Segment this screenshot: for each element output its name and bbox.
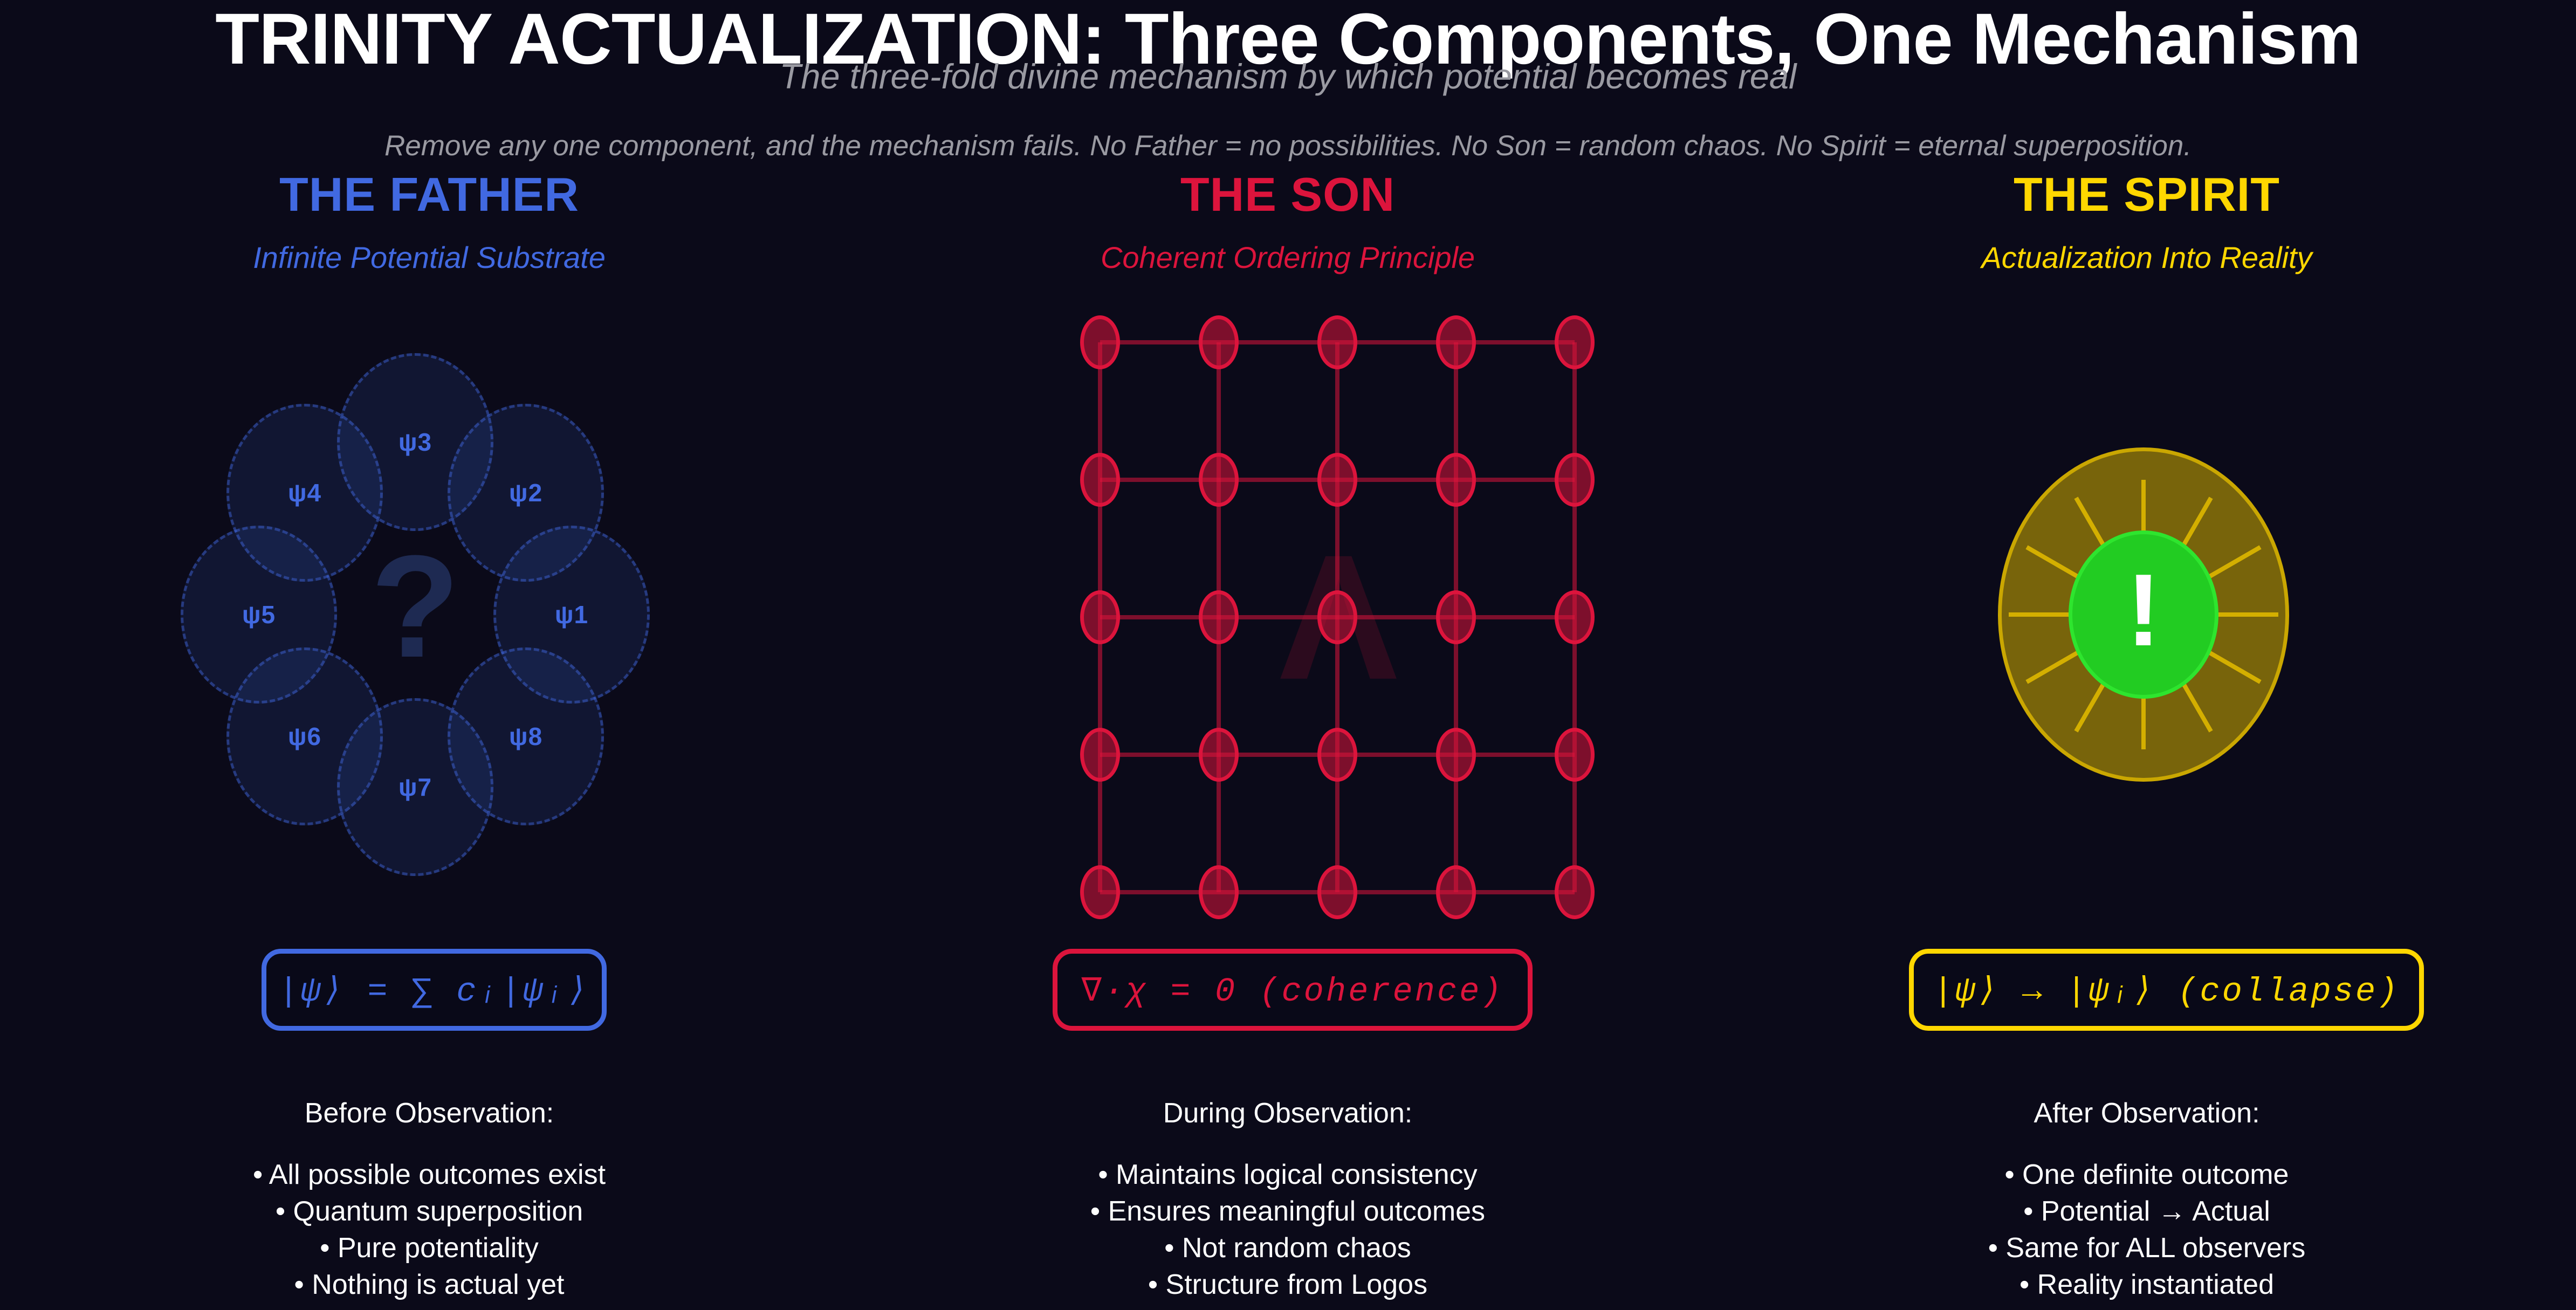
list-item: • Nothing is actual yet (0, 1266, 858, 1303)
column-title-son: THE SON (858, 167, 1717, 222)
collapse-core: ! (2069, 530, 2218, 699)
list-item: • All possible outcomes exist (0, 1156, 858, 1193)
lattice-node (1436, 590, 1476, 644)
lattice-node (1317, 865, 1357, 919)
column-subtitle-father: Infinite Potential Substrate (0, 240, 858, 275)
list-item: • Reality instantiated (1718, 1266, 2576, 1303)
column-subtitle-son: Coherent Ordering Principle (858, 240, 1717, 275)
list-item: • Ensures meaningful outcomes (858, 1193, 1717, 1230)
lattice-node (1199, 590, 1239, 644)
list-item: • One definite outcome (1718, 1156, 2576, 1193)
lattice-node (1555, 453, 1595, 507)
formula-father: |ψ⟩ = ∑ cᵢ|ψᵢ⟩ (262, 949, 607, 1031)
column-son: THE SON Coherent Ordering Principle Λ ∇·… (858, 156, 1717, 1310)
exclamation-icon: ! (2126, 559, 2160, 670)
lattice-node (1080, 728, 1120, 782)
coherence-lattice-diagram: Λ (1069, 313, 1608, 922)
list-heading-father: Before Observation: (0, 1097, 858, 1129)
lattice-node (1080, 453, 1120, 507)
lattice-node (1317, 728, 1357, 782)
list-heading-son: During Observation: (858, 1097, 1717, 1129)
lattice-node (1436, 315, 1476, 369)
lattice-node (1199, 315, 1239, 369)
bullet-list-son: • Maintains logical consistency• Ensures… (858, 1156, 1717, 1303)
column-spirit: THE SPIRIT Actualization Into Reality ! … (1718, 156, 2576, 1310)
list-item: • Structure from Logos (858, 1266, 1717, 1303)
formula-son: ∇·χ = 0 (coherence) (1053, 949, 1533, 1031)
lattice-node (1555, 865, 1595, 919)
list-item: • Maintains logical consistency (858, 1156, 1717, 1193)
page-subtitle: The three-fold divine mechanism by which… (0, 56, 2576, 96)
list-item: • Not random chaos (858, 1230, 1717, 1266)
superposition-ring-diagram: ψ8ψ7ψ6ψ5ψ4ψ3ψ2ψ1 ? (167, 307, 663, 922)
question-mark-icon: ? (167, 307, 663, 922)
lattice-node (1555, 728, 1595, 782)
lattice-node (1080, 315, 1120, 369)
list-item: • Same for ALL observers (1718, 1230, 2576, 1266)
lattice-node (1317, 590, 1357, 644)
list-item: • Pure potentiality (0, 1230, 858, 1266)
lattice-node (1436, 453, 1476, 507)
lattice-node (1199, 728, 1239, 782)
list-heading-spirit: After Observation: (1718, 1097, 2576, 1129)
bullet-list-father: • All possible outcomes exist• Quantum s… (0, 1156, 858, 1303)
list-item: • Quantum superposition (0, 1193, 858, 1230)
formula-spirit: |ψ⟩ → |ψᵢ⟩ (collapse) (1909, 949, 2424, 1031)
column-title-spirit: THE SPIRIT (1718, 167, 2576, 222)
lattice-node (1555, 315, 1595, 369)
list-item: • Potential → Actual (1718, 1193, 2576, 1230)
lattice-node (1199, 865, 1239, 919)
column-father: THE FATHER Infinite Potential Substrate … (0, 156, 858, 1310)
lattice-node (1317, 453, 1357, 507)
lattice-node (1555, 590, 1595, 644)
lattice-node (1436, 865, 1476, 919)
column-subtitle-spirit: Actualization Into Reality (1718, 240, 2576, 275)
lattice-node (1199, 453, 1239, 507)
column-title-father: THE FATHER (0, 167, 858, 222)
bullet-list-spirit: • One definite outcome• Potential → Actu… (1718, 1156, 2576, 1303)
lattice-node (1080, 590, 1120, 644)
collapse-starburst-diagram: ! (1879, 307, 2408, 922)
lattice-node (1080, 865, 1120, 919)
lattice-node (1436, 728, 1476, 782)
lattice-node (1317, 315, 1357, 369)
